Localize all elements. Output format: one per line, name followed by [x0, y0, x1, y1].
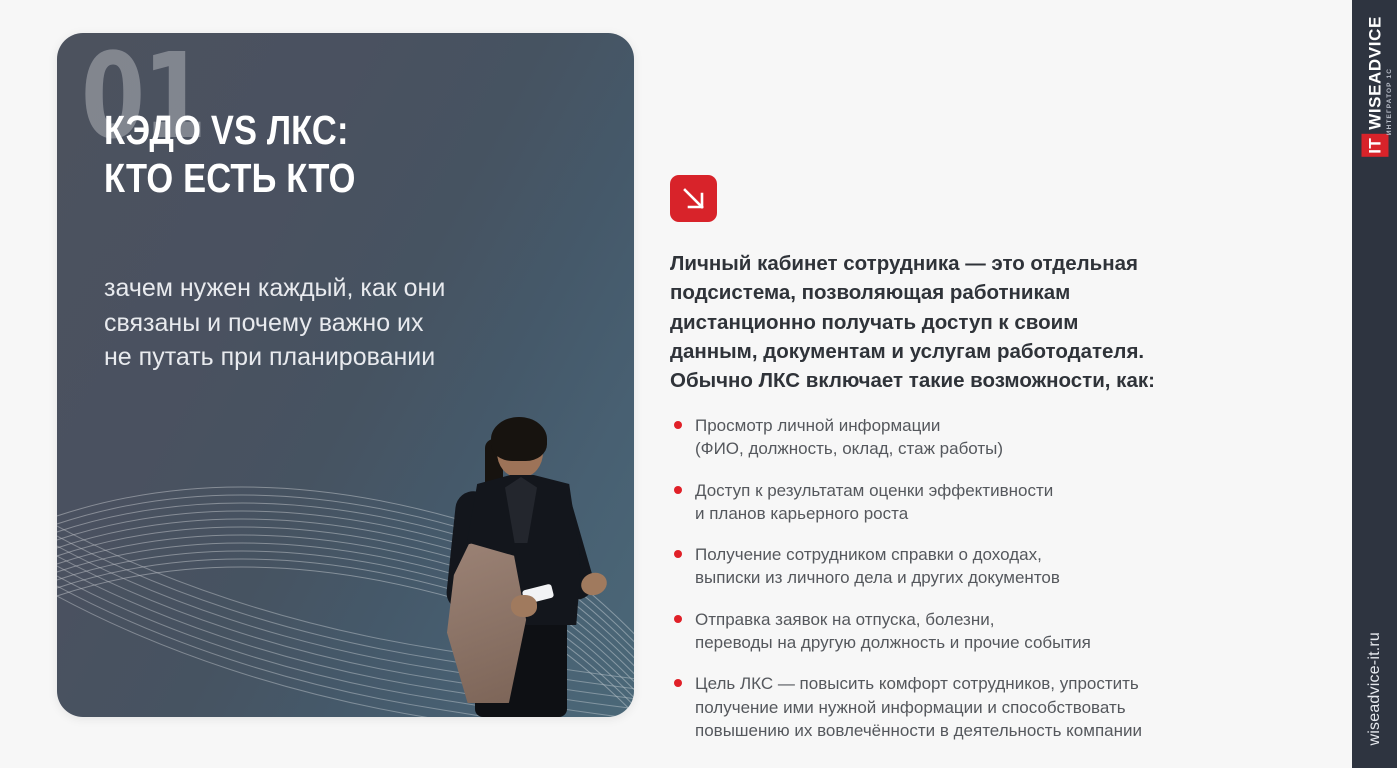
brand-tagline: ИНТЕГРАТОР 1С	[1386, 68, 1393, 135]
bullet-dot-icon	[674, 679, 682, 687]
lead-paragraph: Личный кабинет сотрудника — это отдельна…	[670, 249, 1270, 396]
page-subtitle-line-3: не путать при планировании	[104, 340, 524, 375]
bullet-dot-icon	[674, 615, 682, 623]
slide: 01 КЭДО VS ЛКС: КТО ЕСТЬ КТО зачем нужен…	[0, 0, 1397, 768]
list-item: Получение сотрудником справки о доходах,…	[670, 543, 1290, 590]
list-item-line: получение ими нужной информации и способ…	[695, 696, 1290, 719]
list-item: Просмотр личной информации (ФИО, должнос…	[670, 414, 1290, 461]
lead-line-3: дистанционно получать доступ к своим	[670, 308, 1270, 337]
list-item: Отправка заявок на отпуска, болезни, пер…	[670, 608, 1290, 655]
bullet-dot-icon	[674, 486, 682, 494]
brand-name: WISEADVICE	[1366, 16, 1383, 130]
content-column: Личный кабинет сотрудника — это отдельна…	[665, 0, 1305, 768]
page-title: КЭДО VS ЛКС: КТО ЕСТЬ КТО	[104, 107, 524, 203]
list-item-line: Доступ к результатам оценки эффективност…	[695, 479, 1290, 502]
page-subtitle-line-2: связаны и почему важно их	[104, 306, 524, 341]
presenter-hair	[491, 417, 547, 461]
lead-line-5: Обычно ЛКС включает такие возможности, к…	[670, 366, 1270, 395]
list-item-line: (ФИО, должность, оклад, стаж работы)	[695, 437, 1290, 460]
bullet-dot-icon	[674, 421, 682, 429]
list-item-line: переводы на другую должность и прочие со…	[695, 631, 1290, 654]
list-item-line: Получение сотрудником справки о доходах,	[695, 543, 1290, 566]
page-subtitle-line-1: зачем нужен каждый, как они	[104, 271, 524, 306]
brand-logo: IT WISEADVICE ИНТЕГРАТОР 1С	[1352, 8, 1397, 238]
presenter-hand-left	[511, 595, 537, 617]
list-item-line: Отправка заявок на отпуска, болезни,	[695, 608, 1290, 631]
list-item-line: Просмотр личной информации	[695, 414, 1290, 437]
list-item-line: выписки из личного дела и других докумен…	[695, 566, 1290, 589]
bullet-dot-icon	[674, 550, 682, 558]
page-title-line-1: КЭДО VS ЛКС:	[104, 107, 524, 155]
list-item: Доступ к результатам оценки эффективност…	[670, 479, 1290, 526]
lead-line-2: подсистема, позволяющая работникам	[670, 278, 1270, 307]
list-item-line: и планов карьерного роста	[695, 502, 1290, 525]
arrow-down-right-icon	[670, 175, 717, 222]
list-item-line: повышению их вовлечённости в деятельност…	[695, 719, 1290, 742]
feature-list: Просмотр личной информации (ФИО, должнос…	[670, 414, 1290, 742]
lead-line-1: Личный кабинет сотрудника — это отдельна…	[670, 249, 1270, 278]
lead-line-4: данным, документам и услугам работодател…	[670, 337, 1270, 366]
list-item: Цель ЛКС — повысить комфорт сотрудников,…	[670, 672, 1290, 742]
brand-badge-it: IT	[1361, 134, 1388, 157]
page-title-line-2: КТО ЕСТЬ КТО	[104, 155, 524, 203]
list-item-line: Цель ЛКС — повысить комфорт сотрудников,…	[695, 672, 1290, 695]
website-url[interactable]: wiseadvice-it.ru	[1352, 632, 1397, 750]
page-subtitle: зачем нужен каждый, как они связаны и по…	[104, 271, 524, 375]
brand-rail: IT WISEADVICE ИНТЕГРАТОР 1С wiseadvice-i…	[1352, 0, 1397, 768]
hero-card: 01 КЭДО VS ЛКС: КТО ЕСТЬ КТО зачем нужен…	[57, 33, 634, 717]
website-url-text: wiseadvice-it.ru	[1366, 632, 1384, 745]
presenter-photo	[413, 417, 628, 717]
